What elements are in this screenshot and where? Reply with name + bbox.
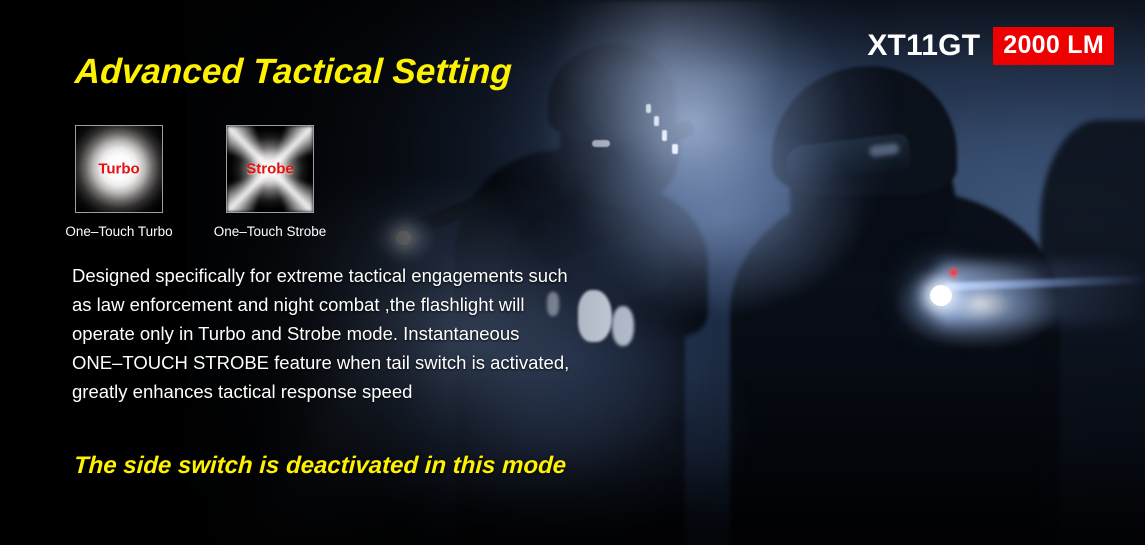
mode-item-strobe[interactable]: Strobe One–Touch Strobe (226, 125, 314, 239)
description-line-1: Designed specifically for extreme tactic… (72, 261, 712, 290)
description-line-5: greatly enhances tactical response speed (72, 377, 712, 406)
description-paragraph: Designed specifically for extreme tactic… (72, 261, 712, 406)
lumen-output-badge: 2000 LM (993, 27, 1114, 65)
product-model-label: XT11GT (867, 31, 980, 61)
description-line-3: operate only in Turbo and Strobe mode. I… (72, 319, 712, 348)
product-feature-poster: Advanced Tactical Setting XT11GT 2000 LM… (0, 0, 1145, 545)
strobe-caption: One–Touch Strobe (196, 224, 344, 239)
page-title: Advanced Tactical Setting (74, 52, 513, 92)
poster-content: Advanced Tactical Setting XT11GT 2000 LM… (0, 0, 1145, 545)
mode-icon-group: Turbo One–Touch Turbo Strobe One–Touch S… (75, 125, 314, 239)
turbo-beam-icon[interactable]: Turbo (75, 125, 163, 213)
side-switch-notice: The side switch is deactivated in this m… (73, 452, 567, 480)
turbo-caption: One–Touch Turbo (45, 224, 193, 239)
description-line-2: as law enforcement and night combat ,the… (72, 290, 712, 319)
mode-item-turbo[interactable]: Turbo One–Touch Turbo (75, 125, 163, 239)
product-badge-group: XT11GT 2000 LM (867, 27, 1114, 65)
description-line-4: ONE–TOUCH STROBE feature when tail switc… (72, 348, 712, 377)
turbo-label: Turbo (76, 161, 162, 178)
strobe-beam-icon[interactable]: Strobe (226, 125, 314, 213)
strobe-label: Strobe (227, 161, 313, 178)
